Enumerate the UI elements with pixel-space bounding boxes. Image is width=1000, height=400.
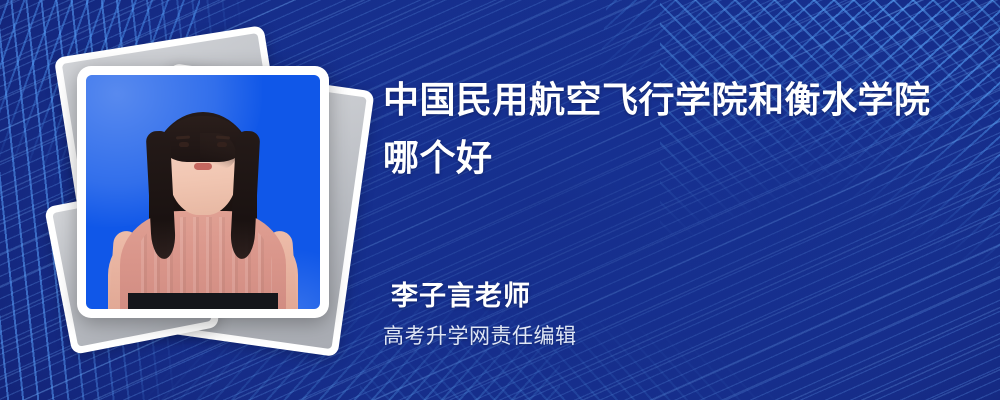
portrait-eye-right: [217, 142, 227, 147]
portrait-photo-frame: [77, 66, 329, 318]
portrait-photo-stack: [55, 42, 345, 342]
banner-text-block: 中国民用航空飞行学院和衡水学院 哪个好 李子言老师 高考升学网责任编辑: [383, 0, 983, 400]
banner-title: 中国民用航空飞行学院和衡水学院 哪个好: [383, 72, 963, 188]
article-cover-banner: 中国民用航空飞行学院和衡水学院 哪个好 李子言老师 高考升学网责任编辑: [0, 0, 1000, 400]
portrait-eye-left: [179, 142, 189, 147]
author-role: 高考升学网责任编辑: [383, 320, 577, 350]
banner-title-line-2: 哪个好: [383, 130, 963, 188]
portrait-mouth: [194, 163, 212, 170]
portrait-figure: [86, 75, 320, 309]
portrait-skirt: [128, 293, 278, 309]
author-name: 李子言老师: [391, 274, 531, 313]
portrait-photo: [86, 75, 320, 309]
banner-title-line-1: 中国民用航空飞行学院和衡水学院: [383, 72, 963, 130]
